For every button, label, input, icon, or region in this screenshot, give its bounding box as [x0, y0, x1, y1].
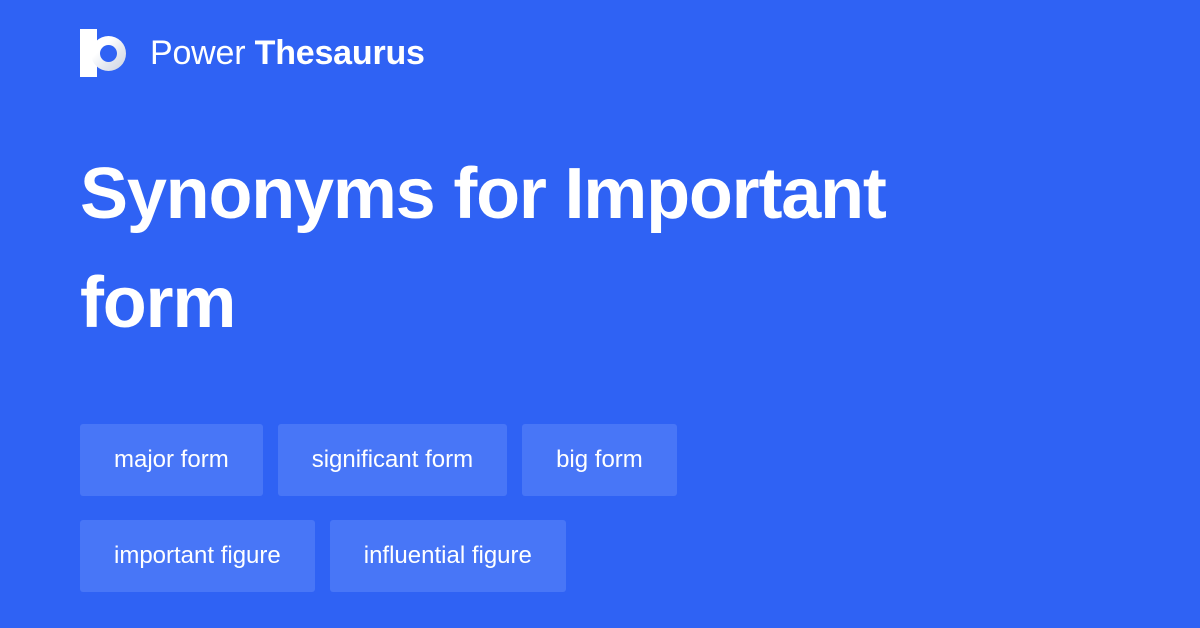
logo-hole [100, 45, 117, 62]
page-title: Synonyms for Important form [80, 140, 1040, 359]
synonym-tag-list: major form significant form big form imp… [80, 424, 1120, 592]
synonym-tag[interactable]: important figure [80, 520, 315, 592]
brand-name-first: Power [150, 34, 245, 72]
synonym-tag[interactable]: significant form [278, 424, 507, 496]
synonym-tag[interactable]: influential figure [330, 520, 566, 592]
synonym-row: important figure influential figure [80, 520, 1120, 592]
synonym-row: major form significant form big form [80, 424, 1120, 496]
synonym-tag[interactable]: major form [80, 424, 263, 496]
synonyms-share-card: Power Thesaurus Synonyms for Important f… [0, 0, 1200, 628]
synonym-tag[interactable]: big form [522, 424, 677, 496]
brand-header[interactable]: Power Thesaurus [80, 28, 425, 78]
power-thesaurus-b-logo-icon [80, 29, 126, 77]
brand-name: Power Thesaurus [150, 36, 425, 70]
brand-name-second: Thesaurus [255, 34, 425, 72]
